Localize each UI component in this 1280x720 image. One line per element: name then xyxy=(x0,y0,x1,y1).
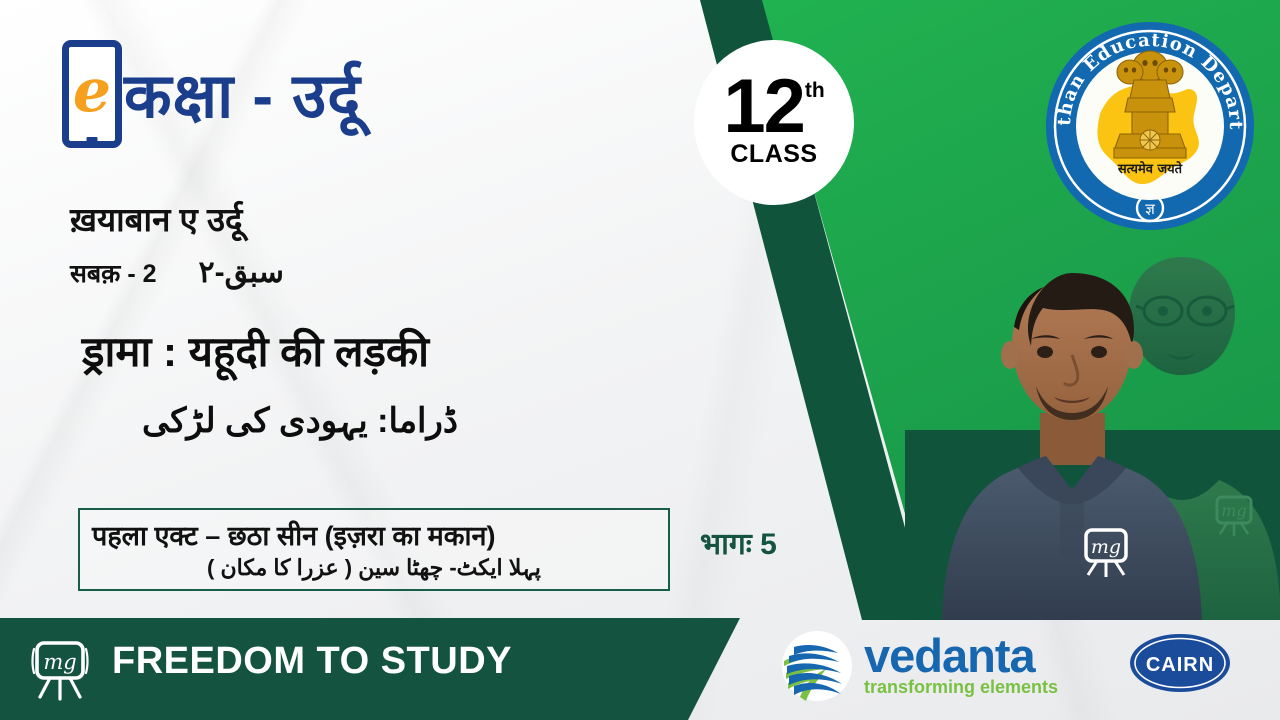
vedanta-tagline: transforming elements xyxy=(864,677,1058,698)
phone-speaker xyxy=(81,43,103,46)
mg-shirt-logo-primary: mg xyxy=(1086,530,1126,577)
vedanta-logo: vedanta transforming elements xyxy=(778,627,1058,705)
cairn-ellipse-icon: CAIRN xyxy=(1128,632,1232,694)
rajasthan-education-department-emblem: सत्यमेव जयते Rajasthan Education Departm… xyxy=(1042,18,1258,234)
mg-shirt-logo-secondary: mg xyxy=(1217,497,1251,536)
lesson-number-hindi: सबक़ - 2 xyxy=(70,256,157,290)
logo-letter-e: e xyxy=(69,47,115,141)
lesson-number-urdu: سبق-۲ xyxy=(199,255,284,290)
svg-text:mg: mg xyxy=(1221,501,1246,520)
ekaksha-logo: e कक्षा - उर्दू xyxy=(62,40,361,148)
svg-text:mg: mg xyxy=(1091,536,1121,558)
class-ordinal-suffix: th xyxy=(805,82,825,99)
part-label: भागः 5 xyxy=(700,522,777,563)
class-word-label: CLASS xyxy=(730,140,817,169)
scene-box: पहला एक्ट – छठा सीन (इज़रा का मकान) پہلا… xyxy=(78,508,670,591)
svg-text:ज्ञ: ज्ञ xyxy=(1145,200,1155,218)
mg-easel-icon: mg xyxy=(30,637,96,701)
svg-text:mg: mg xyxy=(43,650,76,674)
cairn-wordmark: CAIRN xyxy=(1146,654,1214,676)
scene-text-urdu: پہلا ایکٹ- چھٹا سین ( عزرا کا مکان ) xyxy=(92,555,656,581)
lesson-number-row: सबक़ - 2 سبق-۲ xyxy=(70,255,284,290)
drama-title-hindi: ड्रामा : यहूदी की लड़की xyxy=(82,322,429,379)
brand-name: कक्षा - उर्दू xyxy=(124,52,361,136)
vedanta-wordmark: vedanta xyxy=(864,634,1058,679)
book-title: ख़याबान ए उर्दू xyxy=(70,196,243,241)
emblem-motto: सत्यमेव जयते xyxy=(1117,161,1183,177)
phone-e-icon: e xyxy=(62,40,122,148)
footer-tagline: FREEDOM TO STUDY xyxy=(112,640,512,683)
class-number: 12 xyxy=(723,76,804,138)
instructor-photo-primary: mg xyxy=(940,255,1205,620)
slide-root: mg xyxy=(0,0,1280,720)
vedanta-globe-icon xyxy=(778,627,856,705)
scene-text-hindi: पहला एक्ट – छठा सीन (इज़रा का मकान) xyxy=(92,516,656,553)
class-badge: 12 th CLASS xyxy=(694,40,854,205)
drama-title-urdu: ڈراما: یہودی کی لڑکی xyxy=(0,400,600,441)
class-number-row: 12 th xyxy=(723,76,824,138)
